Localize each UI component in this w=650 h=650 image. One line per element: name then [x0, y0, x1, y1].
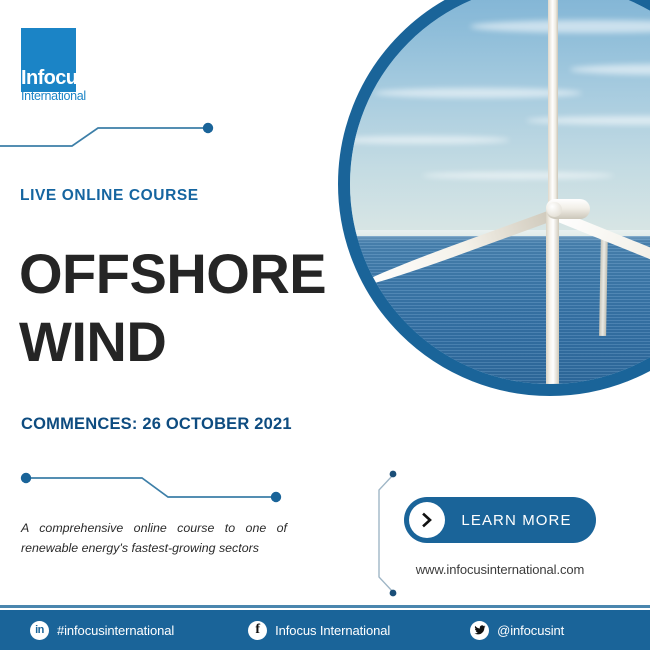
social-item-twitter[interactable]: @infocusint — [470, 621, 564, 640]
website-url[interactable]: www.infocusinternational.com — [404, 562, 596, 577]
decorative-bracket-cta — [372, 468, 412, 598]
commences-date: COMMENCES: 26 OCTOBER 2021 — [21, 415, 292, 434]
linkedin-icon: in — [30, 621, 49, 640]
brand-logo[interactable]: Infocus International — [18, 28, 98, 110]
learn-more-button[interactable]: LEARN MORE — [404, 497, 596, 543]
social-label-linkedin: #infocusinternational — [57, 623, 174, 638]
headline-line-1: OFFSHORE — [19, 242, 326, 305]
footer-divider — [0, 605, 650, 608]
facebook-icon: f — [248, 621, 267, 640]
hero-image-circle — [338, 0, 650, 396]
decorative-line-top — [0, 120, 230, 160]
poster-canvas: Infocus International LIVE ONLINE COURSE… — [0, 0, 650, 650]
page-title: OFFSHORE WIND — [19, 240, 349, 377]
cloud-streak — [422, 172, 614, 179]
twitter-icon — [470, 621, 489, 640]
headline-line-2: WIND — [19, 308, 349, 376]
course-blurb: A comprehensive online course to one of … — [21, 519, 287, 558]
decorative-line-bottom — [0, 468, 300, 513]
social-footer-bar: in #infocusinternational f Infocus Inter… — [0, 610, 650, 650]
social-item-facebook[interactable]: f Infocus International — [248, 621, 390, 640]
social-label-twitter: @infocusint — [497, 623, 564, 638]
wind-turbine-scene — [350, 0, 650, 384]
logo-secondary-text: International — [21, 90, 86, 103]
social-label-facebook: Infocus International — [275, 623, 390, 638]
logo-primary-text: Infocus — [21, 68, 88, 88]
turbine-tower-main — [546, 208, 559, 384]
turbine-blade-upper — [548, 0, 558, 210]
learn-more-label: LEARN MORE — [445, 512, 596, 529]
chevron-right-icon — [409, 502, 445, 538]
kicker-text: LIVE ONLINE COURSE — [20, 187, 199, 205]
social-item-linkedin[interactable]: in #infocusinternational — [30, 621, 174, 640]
